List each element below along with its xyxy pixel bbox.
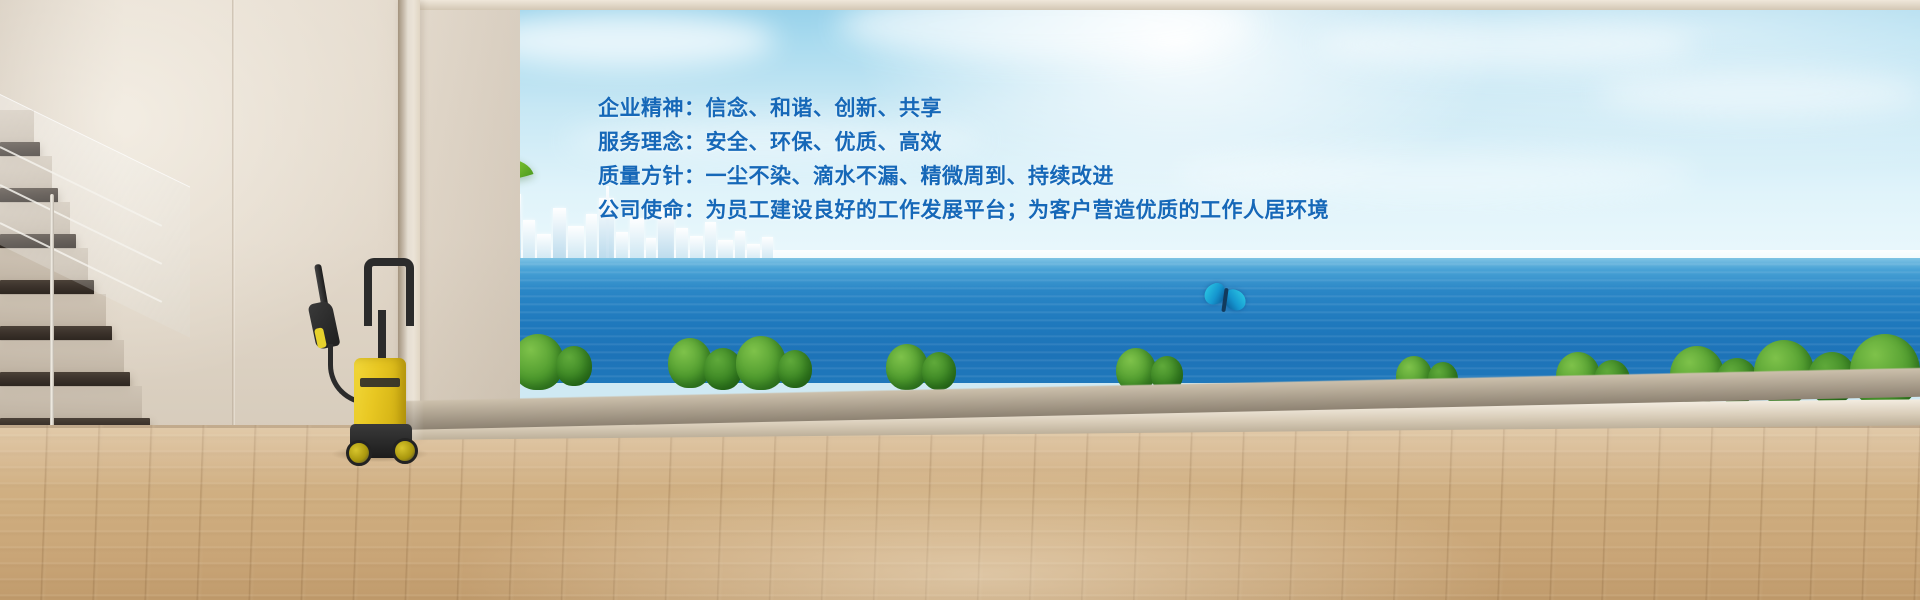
wall-seam xyxy=(232,0,235,470)
wood-floor xyxy=(0,425,1920,600)
corporate-culture-banner: 企业精神：信念、和谐、创新、共享 服务理念：安全、环保、优质、高效 质量方针：一… xyxy=(0,0,1920,600)
cloud xyxy=(1596,70,1920,116)
window-frame-top xyxy=(398,0,1920,10)
washer-wheel xyxy=(346,440,372,466)
washer-wheel xyxy=(392,438,418,464)
blue-butterfly xyxy=(1204,282,1246,320)
washer-body-label xyxy=(360,378,400,387)
cloud xyxy=(476,12,776,68)
culture-line-quality: 质量方针：一尘不染、滴水不漏、精微周到、持续改进 xyxy=(598,160,1358,194)
culture-line-mission: 公司使命：为员工建设良好的工作发展平台；为客户营造优质的工作人居环境 xyxy=(598,194,1358,228)
floor-sheen xyxy=(0,425,1920,600)
cloud xyxy=(1316,18,1696,70)
pressure-washer xyxy=(306,258,422,458)
culture-line-service: 服务理念：安全、环保、优质、高效 xyxy=(598,126,1358,160)
culture-line-spirit: 企业精神：信念、和谐、创新、共享 xyxy=(598,92,1358,126)
washer-handle xyxy=(364,258,414,326)
culture-text-block: 企业精神：信念、和谐、创新、共享 服务理念：安全、环保、优质、高效 质量方针：一… xyxy=(598,92,1358,228)
floating-staircase xyxy=(0,110,200,470)
